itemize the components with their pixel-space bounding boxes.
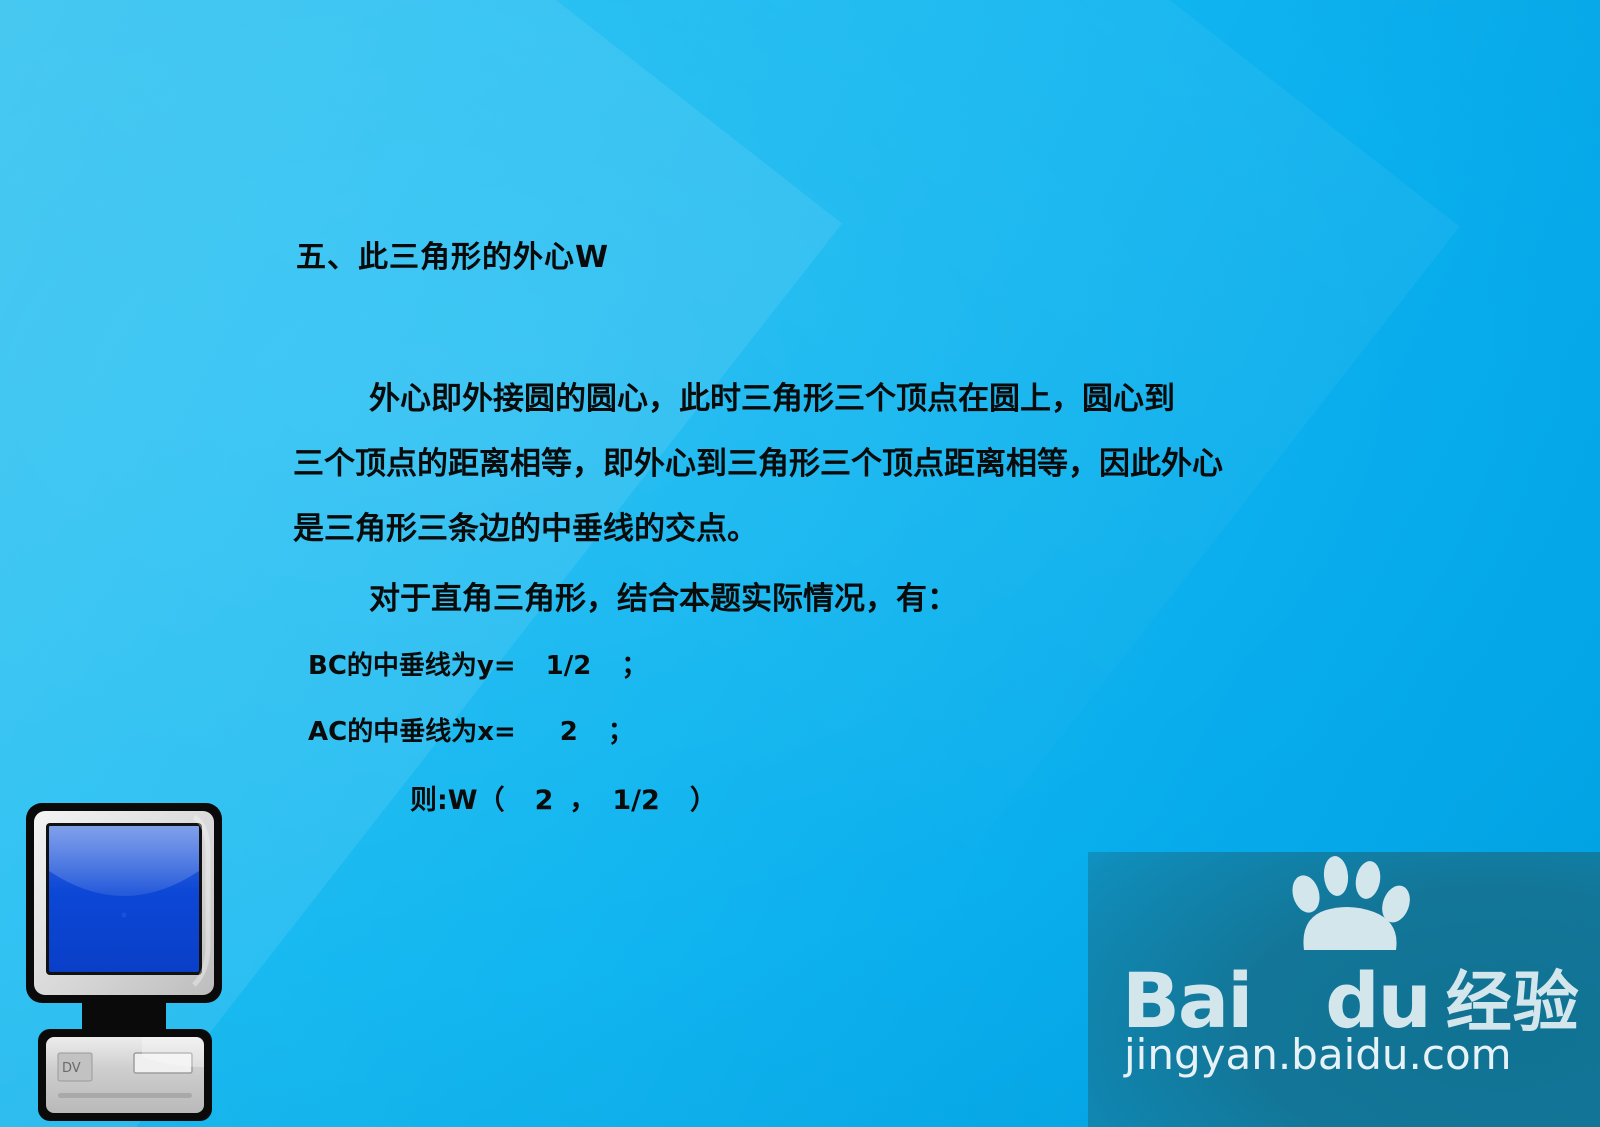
eq2-terminator: ； — [608, 717, 634, 747]
tower-label: DV — [62, 1061, 81, 1076]
eq3-prefix: 则:W（ — [410, 785, 505, 816]
eq2-label: AC的中垂线为x= — [308, 717, 516, 747]
paragraph1-line2: 三个顶点的距离相等，即外心到三角形三个顶点距离相等，因此外心 — [293, 438, 1223, 483]
eq2-value: 2 — [560, 717, 578, 747]
desktop-computer-icon: DV — [22, 795, 227, 1127]
eq1-terminator: ； — [621, 651, 647, 681]
paragraph1-line3: 是三角形三条边的中垂线的交点。 — [293, 503, 758, 548]
paragraph2-line1: 对于直角三角形，结合本题实际情况，有： — [369, 573, 958, 618]
equation-circumcenter-result: 则:W（2，1/2） — [410, 778, 717, 817]
paragraph1-line1: 外心即外接圆的圆心，此时三角形三个顶点在圆上，圆心到 — [369, 373, 1175, 418]
monitor-neck — [82, 1001, 166, 1033]
eq1-value: 1/2 — [546, 651, 592, 681]
presentation-slide: 五、此三角形的外心W 外心即外接圆的圆心，此时三角形三个顶点在圆上，圆心到 三个… — [0, 0, 1600, 1127]
monitor-shell — [26, 803, 222, 1003]
eq3-y-value: 1/2 — [612, 785, 659, 816]
computer-tower: DV — [38, 1029, 212, 1121]
equation-ac-perpendicular-bisector: AC的中垂线为x=2； — [308, 711, 634, 748]
slide-title: 五、此三角形的外心W — [296, 232, 609, 276]
eq1-label: BC的中垂线为y= — [308, 651, 516, 681]
slide-content: 五、此三角形的外心W 外心即外接圆的圆心，此时三角形三个顶点在圆上，圆心到 三个… — [0, 0, 1600, 1127]
eq3-suffix: ） — [690, 785, 717, 816]
equation-bc-perpendicular-bisector: BC的中垂线为y=1/2； — [308, 645, 647, 682]
eq3-x-value: 2 — [535, 785, 554, 816]
eq3-separator: ， — [569, 785, 596, 816]
